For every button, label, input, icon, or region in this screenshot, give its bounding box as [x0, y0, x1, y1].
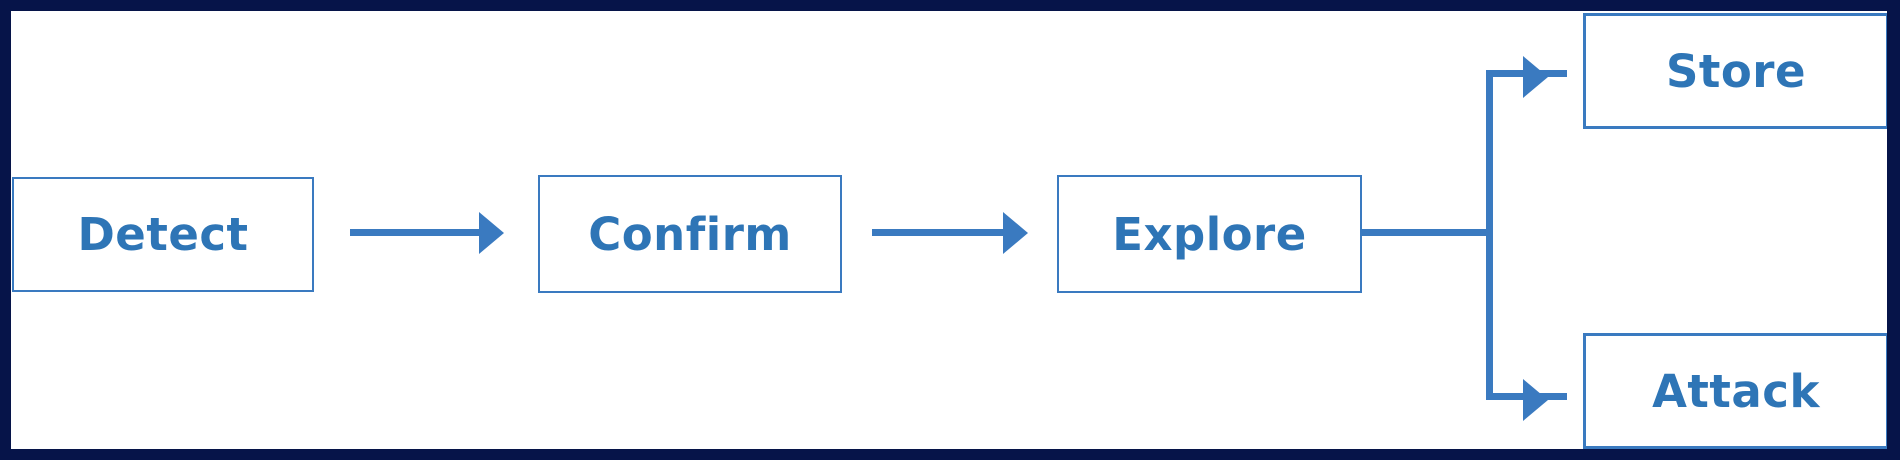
- connector-branch-spine: [1486, 70, 1493, 400]
- arrowhead-explore-to-store-icon: [1523, 56, 1548, 98]
- node-store[interactable]: Store: [1583, 13, 1887, 129]
- node-attack[interactable]: Attack: [1583, 333, 1887, 449]
- node-confirm-label: Confirm: [588, 212, 792, 257]
- node-explore-label: Explore: [1112, 212, 1307, 257]
- node-detect-label: Detect: [77, 212, 248, 257]
- node-detect[interactable]: Detect: [12, 177, 314, 292]
- node-store-label: Store: [1666, 49, 1806, 94]
- diagram-surface: Detect Confirm Explore Store Attack: [11, 11, 1887, 449]
- connector-confirm-to-explore-line: [872, 229, 1006, 236]
- connector-explore-branch-trunk: [1361, 229, 1493, 236]
- connector-detect-to-confirm-line: [350, 229, 482, 236]
- node-confirm[interactable]: Confirm: [538, 175, 842, 293]
- arrowhead-detect-to-confirm-icon: [479, 212, 504, 254]
- arrowhead-confirm-to-explore-icon: [1003, 212, 1028, 254]
- diagram-canvas: Detect Confirm Explore Store Attack: [0, 0, 1900, 460]
- node-attack-label: Attack: [1652, 369, 1820, 414]
- node-explore[interactable]: Explore: [1057, 175, 1362, 293]
- arrowhead-explore-to-attack-icon: [1523, 379, 1548, 421]
